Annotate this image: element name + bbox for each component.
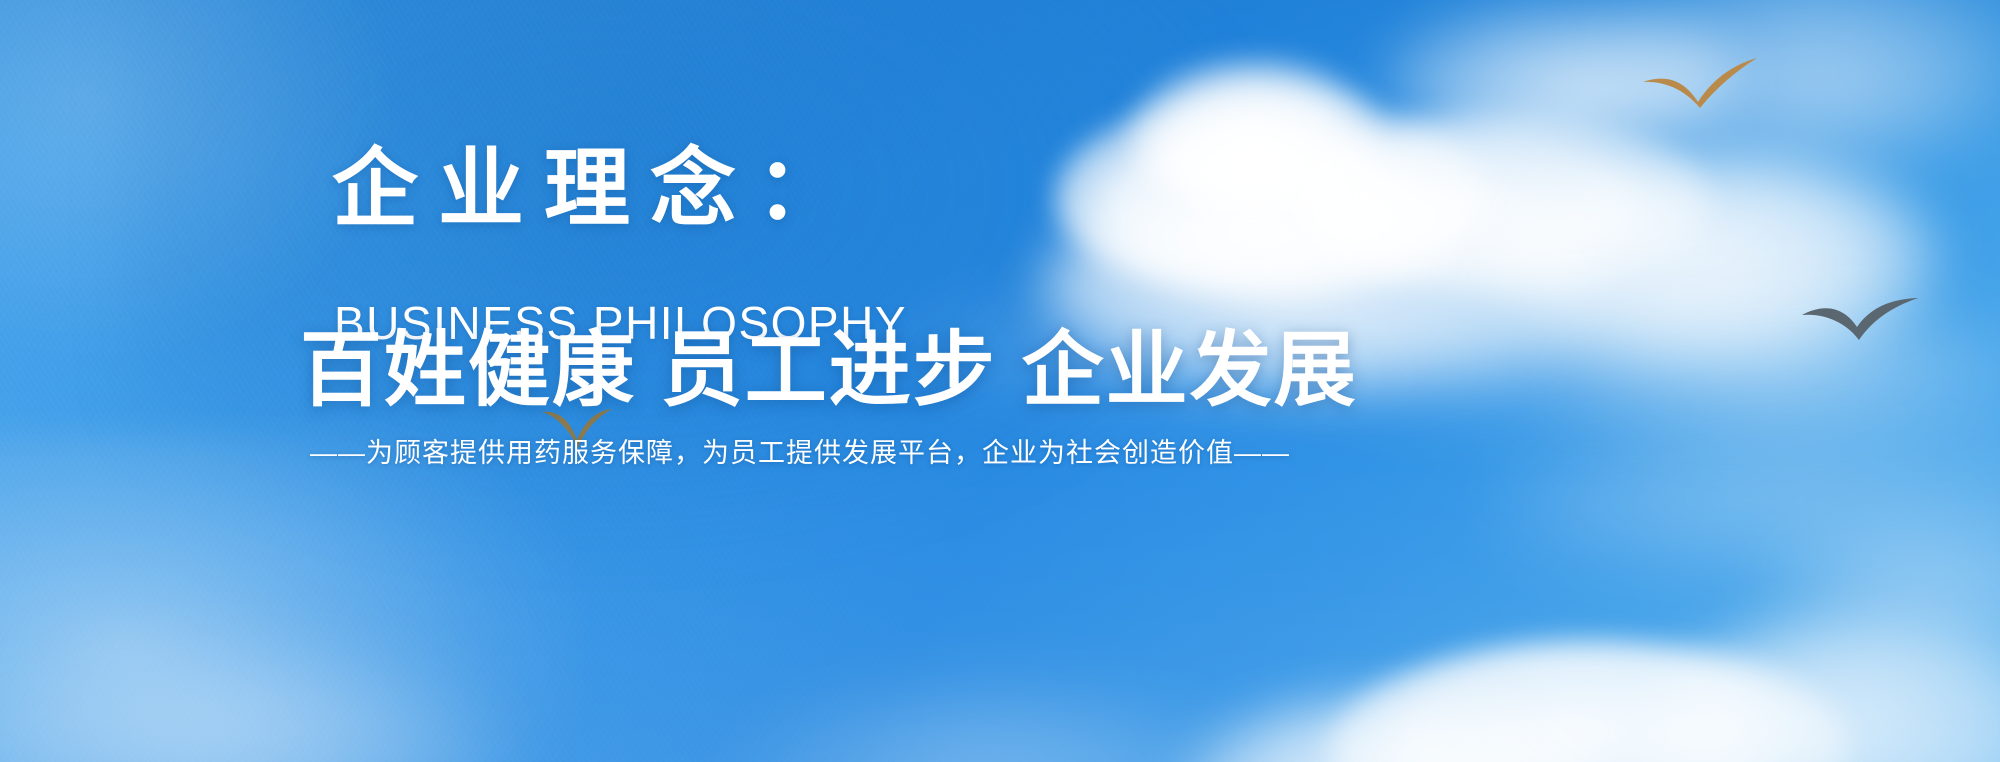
sky-glow-top-left xyxy=(0,0,400,360)
cloud-wisp-center xyxy=(900,300,1420,395)
bird-over-slogan-icon xyxy=(540,400,614,448)
bird-top-right-icon xyxy=(1640,38,1760,108)
bird-mid-right-icon xyxy=(1800,285,1920,347)
business-philosophy-banner: 企业理念： BUSINESS PHILOSOPHY 百姓健康 员工进步 企业发展… xyxy=(0,0,2000,762)
